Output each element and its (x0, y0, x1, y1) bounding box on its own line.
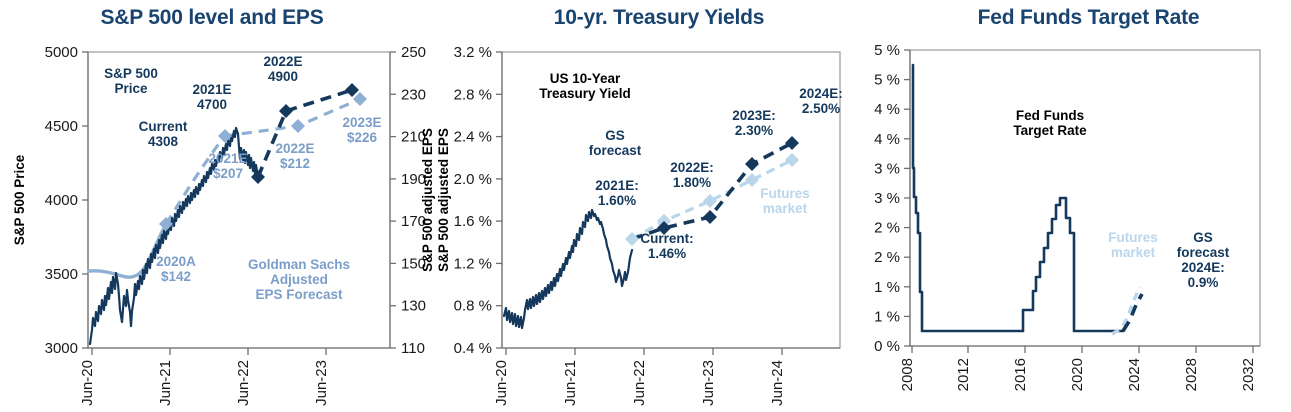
label-futures-line1: Futures (760, 186, 810, 201)
y-ticks: 0 % 1 % 1 % 2 % 2 % 3 % 3 % 4 % 4 % 5 % … (874, 42, 910, 355)
panel-fed-funds-target-rate: Fed Funds Target Rate 0 % 1 % (870, 0, 1291, 412)
label-eps-2022e-line2: $212 (280, 156, 310, 171)
treasury-yield-history-line (504, 210, 632, 328)
ytick-4-5: 5 % (874, 72, 900, 89)
label-gs-forecast-line1: Goldman Sachs (248, 257, 350, 272)
left-axis-title: S&P 500 adjusted EPS (436, 128, 451, 272)
marker-2022e-4900 (345, 83, 359, 97)
marker-2021e-4700 (279, 104, 293, 118)
plot-frame (910, 50, 1260, 346)
y2tick-110: 110 (401, 340, 425, 357)
label-current-line1: Current (139, 119, 188, 134)
ytick-0-4: 0.4 % (454, 340, 492, 357)
label-eps-2021e-line1: 2021E (208, 151, 247, 166)
xtick-jun22: Jun-22 (235, 360, 252, 406)
ytick-3-2: 3.2 % (454, 44, 492, 61)
label-eps-2020a-line1: 2020A (156, 254, 196, 269)
xtick-2008: 2008 (899, 358, 916, 391)
ytick-2-0: 2.0 % (454, 171, 492, 188)
label-futures-line2: market (763, 201, 808, 216)
label-series-line1: Fed Funds (1016, 108, 1084, 123)
label-2023e-line1: 2023E: (732, 108, 776, 123)
ytick-4500: 4500 (45, 118, 78, 135)
ytick-1-2: 1.2 % (454, 255, 492, 272)
label-2021e-price-line1: 2021E (192, 82, 231, 97)
label-2024e-line2: 2.50% (802, 101, 840, 116)
xtick-jun22: Jun-22 (631, 360, 648, 406)
xtick-2032: 2032 (1240, 358, 1257, 391)
ytick-1: 1 % (874, 279, 900, 296)
right-axis-title: S&P 500 adjusted EPS (420, 128, 435, 272)
label-futures-line2: market (1111, 245, 1156, 260)
three-panel-chart-board: S&P 500 level and EPS 3000 3500 4000 450… (0, 0, 1291, 412)
label-current-line2: 1.46% (648, 246, 686, 261)
panel-2-svg: 0.4 % 0.8 % 1.2 % 1.6 % 2.0 % 2.4 % 2.8 … (440, 0, 870, 412)
ytick-0-8: 0.8 % (454, 298, 492, 315)
label-sp500-price-line1: S&P 500 (104, 66, 158, 81)
label-sp500-price-line2: Price (114, 81, 148, 96)
fed-funds-history-step (913, 65, 1123, 331)
ytick-2-4: 2.4 % (454, 129, 492, 146)
marker-eps-2023e (353, 92, 367, 106)
panel-1-svg: 3000 3500 4000 4500 5000 110 130 150 170 (0, 0, 440, 412)
panel-10yr-treasury-yields: 10-yr. Treasury Yields 0.4 % 0.8 % 1.2 %… (440, 0, 870, 412)
panel-sp500-level-and-eps: S&P 500 level and EPS 3000 3500 4000 450… (0, 0, 440, 412)
marker-futures-2022 (703, 194, 717, 208)
ytick-2-5: 3 % (874, 190, 900, 207)
xtick-jun21: Jun-21 (562, 360, 579, 406)
xtick-2024: 2024 (1126, 358, 1143, 391)
ytick-3-5: 4 % (874, 131, 900, 148)
xtick-2012: 2012 (955, 358, 972, 391)
marker-futures-2023 (745, 173, 759, 187)
label-series-line2: Treasury Yield (539, 86, 631, 101)
ytick-4000: 4000 (45, 192, 78, 209)
y2tick-230: 230 (401, 86, 426, 103)
label-eps-2020a-line2: $142 (161, 269, 191, 284)
xtick-jun20: Jun-20 (493, 360, 510, 406)
x-ticks: Jun-20 Jun-21 Jun-22 Jun-23 Jun-24 (493, 348, 786, 406)
label-2023e-line2: 2.30% (735, 123, 773, 138)
label-current-line1: Current: (640, 231, 693, 246)
label-2022e-price-line2: 4900 (268, 69, 298, 84)
x-ticks: Jun-20 Jun-21 Jun-22 Jun-23 (79, 348, 330, 406)
label-series-line1: US 10-Year (550, 71, 621, 86)
y2tick-130: 130 (401, 298, 426, 315)
label-eps-2023e-line1: 2023E (342, 115, 381, 130)
label-gs-forecast-line2: Adjusted (270, 272, 328, 287)
label-eps-2023e-line2: $226 (347, 130, 378, 145)
label-gs-line4: 0.9% (1188, 275, 1219, 290)
ytick-2-8: 2.8 % (454, 86, 492, 103)
label-2024e-line1: 2024E: (799, 86, 843, 101)
label-eps-2022e-line1: 2022E (275, 141, 314, 156)
ytick-2: 2 % (874, 220, 900, 237)
label-gs-forecast-line3: EPS Forecast (255, 287, 343, 302)
ytick-3: 3 % (874, 160, 900, 177)
left-axis-title: S&P 500 Price (12, 154, 27, 245)
xtick-2028: 2028 (1183, 358, 1200, 391)
ytick-0: 0 % (874, 338, 900, 355)
xtick-jun20: Jun-20 (79, 360, 96, 406)
marker-gs-2024e (785, 136, 799, 150)
xtick-2020: 2020 (1069, 358, 1086, 391)
label-gs-forecast-line1: GS (605, 128, 625, 143)
marker-current-4308 (251, 170, 265, 184)
label-gs-line1: GS (1193, 230, 1213, 245)
label-gs-forecast-line2: forecast (589, 143, 642, 158)
left-y-ticks: 3000 3500 4000 4500 5000 (45, 44, 88, 357)
label-gs-line2: forecast (1177, 245, 1230, 260)
y-ticks: 0.4 % 0.8 % 1.2 % 1.6 % 2.0 % 2.4 % 2.8 … (454, 44, 502, 357)
ytick-5: 5 % (874, 42, 900, 59)
panel-3-svg: 0 % 1 % 1 % 2 % 2 % 3 % 3 % 4 % 4 % 5 % … (870, 0, 1291, 412)
label-2021e-line1: 2021E: (595, 178, 639, 193)
marker-futures-2024 (785, 153, 799, 167)
xtick-jun23: Jun-23 (700, 360, 717, 406)
marker-gs-2023e (745, 157, 759, 171)
label-eps-2021e-line2: $207 (213, 166, 243, 181)
xtick-jun24: Jun-24 (769, 360, 786, 406)
label-2022e-line1: 2022E: (670, 160, 714, 175)
label-2022e-line2: 1.80% (673, 175, 711, 190)
ytick-1-6: 1.6 % (454, 213, 492, 230)
ytick-5000: 5000 (45, 44, 78, 61)
xtick-jun23: Jun-23 (313, 360, 330, 406)
marker-futures-current (625, 232, 639, 246)
y2tick-250: 250 (401, 44, 426, 61)
label-futures-line1: Futures (1108, 230, 1158, 245)
label-2022e-price-line1: 2022E (263, 54, 302, 69)
ytick-3500: 3500 (45, 266, 78, 283)
x-ticks: 2008 2012 2016 2020 2024 2028 2032 (899, 346, 1257, 391)
ytick-0-5: 1 % (874, 308, 900, 325)
label-gs-line3: 2024E: (1181, 260, 1225, 275)
ytick-3000: 3000 (45, 340, 78, 357)
ytick-1-5: 2 % (874, 249, 900, 266)
label-current-line2: 4308 (148, 134, 179, 149)
label-2021e-line2: 1.60% (598, 193, 636, 208)
label-series-line2: Target Rate (1013, 123, 1087, 138)
xtick-jun21: Jun-21 (157, 360, 174, 406)
label-2021e-price-line2: 4700 (197, 97, 227, 112)
marker-gs-2022e (703, 210, 717, 224)
marker-eps-2022e (291, 119, 305, 133)
xtick-2016: 2016 (1012, 358, 1029, 391)
ytick-4: 4 % (874, 101, 900, 118)
eps-forecast-dash-2 (225, 99, 360, 136)
markers (159, 83, 367, 231)
